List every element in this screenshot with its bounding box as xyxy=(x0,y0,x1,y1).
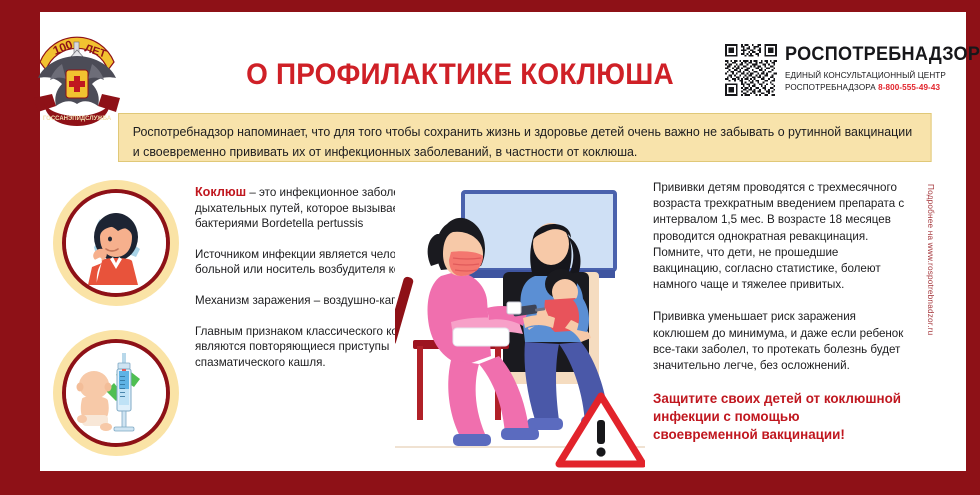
reminder-banner-text: Роспотребнадзор напоминает, что для того… xyxy=(133,125,912,159)
right-paragraph-2: Прививка уменьшает риск заражения коклюш… xyxy=(653,309,908,374)
brand-block: РОСПОТРЕБНАДЗОР ЕДИНЫЙ КОНСУЛЬТАЦИОННЫЙ … xyxy=(725,40,955,116)
brand-name: РОСПОТРЕБНАДЗОР xyxy=(785,44,980,66)
keyword-pertussis: Коклюш xyxy=(195,185,246,199)
right-paragraph-1: Прививки детям проводятся с трехмесячног… xyxy=(653,180,908,293)
reminder-banner: Роспотребнадзор напоминает, что для того… xyxy=(118,113,932,162)
badge-baby-vaccination xyxy=(53,330,179,456)
poster-root: 100 ЛЕТ ГОССАНЭПИДСЛУЖБА О ПРОФИЛАКТИКЕ … xyxy=(0,0,980,495)
poster-sheet: 100 ЛЕТ ГОССАНЭПИДСЛУЖБА О ПРОФИЛАКТИКЕ … xyxy=(40,12,966,471)
rospotrebnadzor-emblem-icon: 100 ЛЕТ ГОССАНЭПИДСЛУЖБА xyxy=(22,20,132,130)
qr-code-icon[interactable] xyxy=(725,44,777,96)
website-side-note[interactable]: Подробнее на www.rospotrebnadzor.ru xyxy=(921,184,935,394)
brand-subtitle-line2: РОСПОТРЕБНАДЗОРА 8-800-555-49-43 xyxy=(785,82,940,92)
svg-text:ГОССАНЭПИДСЛУЖБА: ГОССАНЭПИДСЛУЖБА xyxy=(43,116,112,122)
brand-subtitle-line2-text: РОСПОТРЕБНАДЗОРА xyxy=(785,82,876,92)
brand-subtitle-line1: ЕДИНЫЙ КОНСУЛЬТАЦИОННЫЙ ЦЕНТР xyxy=(785,70,946,80)
call-to-action-text: Защитите своих детей от коклюшной инфекц… xyxy=(653,390,908,444)
hotline-phone-number[interactable]: 8-800-555-49-43 xyxy=(878,82,940,92)
badge-coughing-girl xyxy=(53,180,179,306)
vaccination-scene-illustration xyxy=(395,180,645,470)
page-title: О ПРОФИЛАКТИКЕ КОКЛЮША xyxy=(218,58,702,92)
right-text-column: Прививки детям проводятся с трехмесячног… xyxy=(653,180,908,460)
